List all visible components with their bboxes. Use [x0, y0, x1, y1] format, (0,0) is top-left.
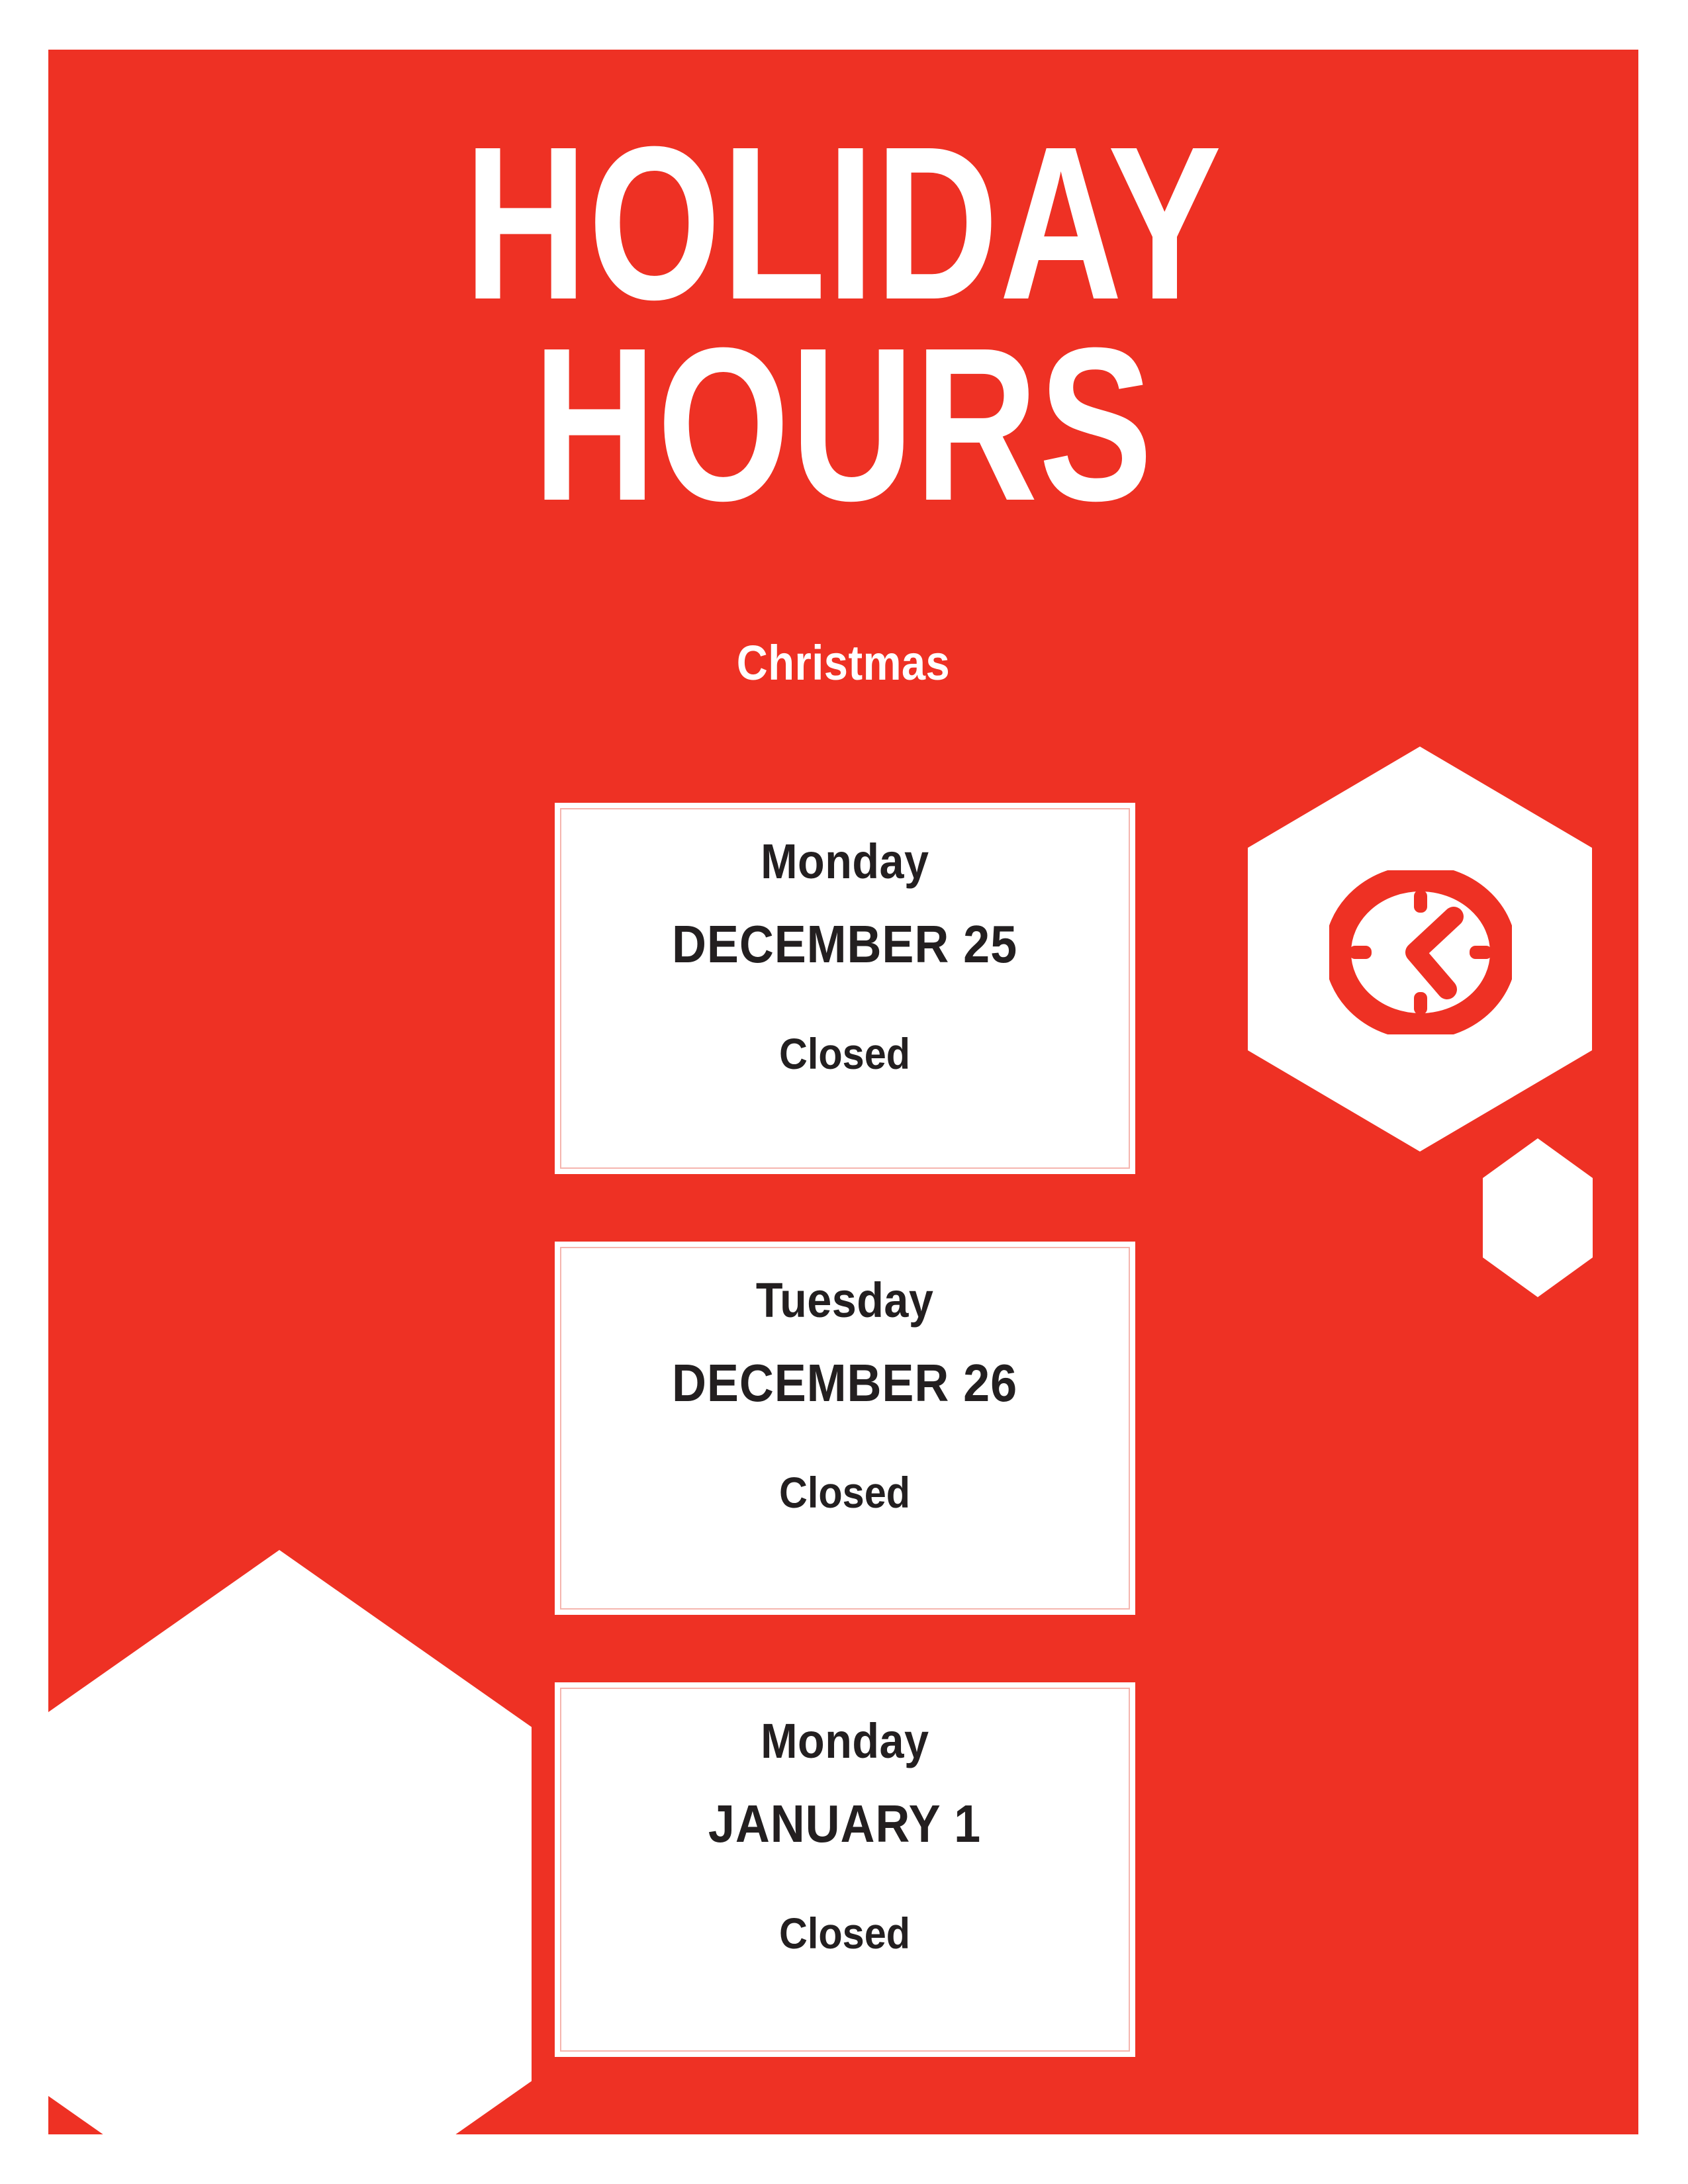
title-line-1: HOLIDAY [223, 122, 1464, 324]
schedule-card: Tuesday DECEMBER 26 Closed [555, 1242, 1135, 1615]
schedule-card: Monday DECEMBER 25 Closed [555, 803, 1135, 1174]
card-date: DECEMBER 26 [672, 1357, 1017, 1410]
schedule-list: Monday DECEMBER 25 Closed Tuesday DECEMB… [555, 803, 1135, 2057]
hexagon-small-accent-icon [1483, 1138, 1593, 1297]
page-subtitle: Christmas [144, 639, 1543, 688]
card-weekday: Monday [761, 837, 929, 886]
card-weekday: Tuesday [756, 1276, 933, 1325]
card-date: JANUARY 1 [708, 1797, 981, 1850]
card-status: Closed [779, 1911, 910, 1955]
page-title: HOLIDAY HOURS [48, 122, 1638, 524]
schedule-card: Monday JANUARY 1 Closed [555, 1682, 1135, 2057]
clock-icon [1329, 870, 1512, 1034]
poster-panel: HOLIDAY HOURS Christmas Monday DECEMBER … [48, 50, 1638, 2134]
hexagon-large-corner [48, 1550, 532, 2134]
card-status: Closed [779, 1471, 910, 1514]
card-date: DECEMBER 25 [672, 918, 1017, 971]
card-weekday: Monday [761, 1717, 929, 1766]
title-line-2: HOURS [223, 324, 1464, 525]
card-status: Closed [779, 1032, 910, 1075]
